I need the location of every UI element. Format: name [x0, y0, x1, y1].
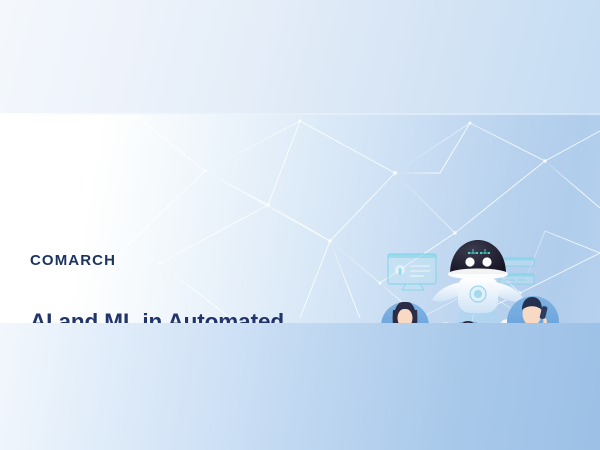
page-title: AI and ML in Automated Cross-vendor VNF … [30, 307, 343, 323]
ai-network-support-illustration [370, 226, 600, 323]
promo-banner[interactable]: COMARCH AI and ML in Automated Cross-ven… [0, 113, 600, 323]
ui-panel-left [388, 254, 436, 290]
avatar-woman-phone [381, 300, 429, 323]
page-background: COMARCH AI and ML in Automated Cross-ven… [0, 0, 600, 450]
headline-line-1: AI and ML in Automated [30, 307, 343, 323]
page-bottom-gradient [0, 323, 600, 450]
comarch-logo: COMARCH [30, 252, 116, 269]
